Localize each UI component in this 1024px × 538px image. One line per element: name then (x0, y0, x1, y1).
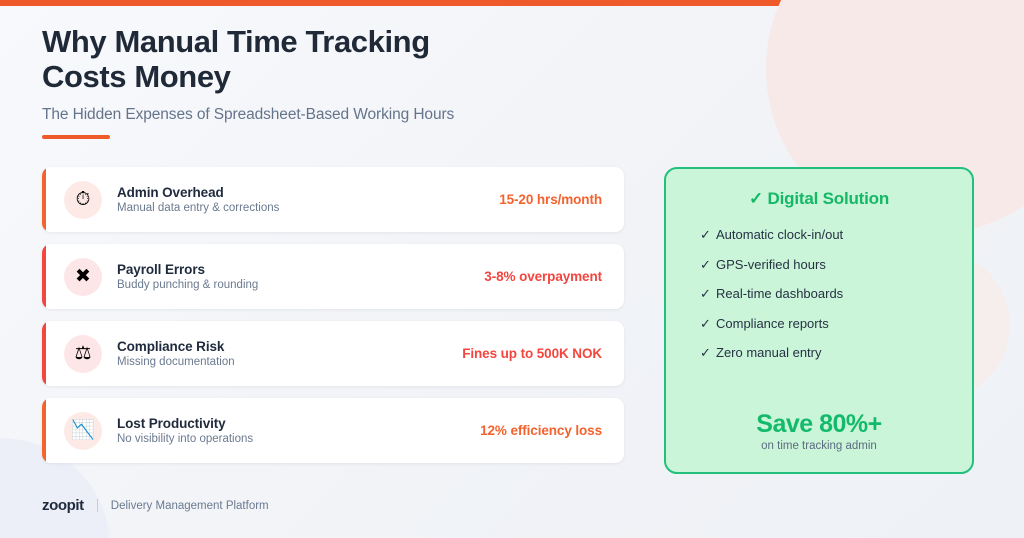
digital-solution-panel: ✓ Digital Solution ✓ Automatic clock-in/… (664, 167, 974, 474)
card-accent-bar (42, 167, 46, 232)
check-icon: ✓ (700, 316, 716, 332)
card-impact-value: Fines up to 500K NOK (462, 346, 602, 361)
top-accent-bar (0, 0, 1024, 6)
check-icon: ✓ (700, 227, 716, 243)
solution-panel-title: ✓ Digital Solution (692, 189, 946, 209)
card-text-block: Lost Productivity No visibility into ope… (117, 416, 480, 445)
card-title: Admin Overhead (117, 185, 499, 200)
list-item-label: Real-time dashboards (716, 286, 843, 301)
card-subtitle: Buddy punching & rounding (117, 279, 484, 291)
check-icon: ✓ (700, 286, 716, 302)
page-title: Why Manual Time Tracking Costs Money (42, 24, 642, 94)
problem-card-list: ⏱ Admin Overhead Manual data entry & cor… (42, 167, 624, 463)
check-icon: ✓ (700, 257, 716, 273)
title-underline-rule (42, 135, 110, 139)
chart-decreasing-icon: 📉 (64, 412, 102, 450)
page-subtitle: The Hidden Expenses of Spreadsheet-Based… (42, 106, 642, 124)
card-impact-value: 3-8% overpayment (484, 269, 602, 284)
card-text-block: Compliance Risk Missing documentation (117, 339, 462, 368)
card-text-block: Payroll Errors Buddy punching & rounding (117, 262, 484, 291)
card-title: Compliance Risk (117, 339, 462, 354)
card-title: Payroll Errors (117, 262, 484, 277)
problem-card: ⏱ Admin Overhead Manual data entry & cor… (42, 167, 624, 232)
problem-card: 📉 Lost Productivity No visibility into o… (42, 398, 624, 463)
footer-branding: zoopit Delivery Management Platform (42, 497, 269, 514)
check-icon: ✓ (700, 345, 716, 361)
card-subtitle: Manual data entry & corrections (117, 202, 499, 214)
brand-logo: zoopit (42, 497, 84, 514)
cross-mark-icon: ✖ (64, 258, 102, 296)
savings-summary: Save 80%+ on time tracking admin (692, 410, 946, 452)
list-item: ✓ Automatic clock-in/out (700, 227, 946, 243)
slide-canvas: Why Manual Time Tracking Costs Money The… (0, 0, 1024, 538)
page-title-line-2: Costs Money (42, 59, 231, 94)
card-impact-value: 12% efficiency loss (480, 423, 602, 438)
list-item-label: Zero manual entry (716, 345, 822, 360)
list-item: ✓ GPS-verified hours (700, 257, 946, 273)
page-title-line-1: Why Manual Time Tracking (42, 24, 430, 59)
card-impact-value: 15-20 hrs/month (499, 192, 602, 207)
slide-header: Why Manual Time Tracking Costs Money The… (42, 24, 642, 139)
problem-card: ⚖ Compliance Risk Missing documentation … (42, 321, 624, 386)
list-item: ✓ Zero manual entry (700, 345, 946, 361)
problem-card: ✖ Payroll Errors Buddy punching & roundi… (42, 244, 624, 309)
card-accent-bar (42, 321, 46, 386)
card-title: Lost Productivity (117, 416, 480, 431)
card-subtitle: No visibility into operations (117, 433, 480, 445)
balance-scale-icon: ⚖ (64, 335, 102, 373)
list-item-label: GPS-verified hours (716, 257, 826, 272)
brand-divider (97, 499, 98, 512)
savings-subtext: on time tracking admin (692, 440, 946, 452)
card-subtitle: Missing documentation (117, 356, 462, 368)
savings-headline: Save 80%+ (692, 410, 946, 439)
list-item: ✓ Compliance reports (700, 316, 946, 332)
card-accent-bar (42, 244, 46, 309)
list-item-label: Automatic clock-in/out (716, 227, 843, 242)
solution-feature-list: ✓ Automatic clock-in/out ✓ GPS-verified … (692, 227, 946, 375)
card-text-block: Admin Overhead Manual data entry & corre… (117, 185, 499, 214)
stopwatch-icon: ⏱ (64, 181, 102, 219)
list-item-label: Compliance reports (716, 316, 829, 331)
brand-tagline: Delivery Management Platform (111, 500, 269, 512)
list-item: ✓ Real-time dashboards (700, 286, 946, 302)
card-accent-bar (42, 398, 46, 463)
